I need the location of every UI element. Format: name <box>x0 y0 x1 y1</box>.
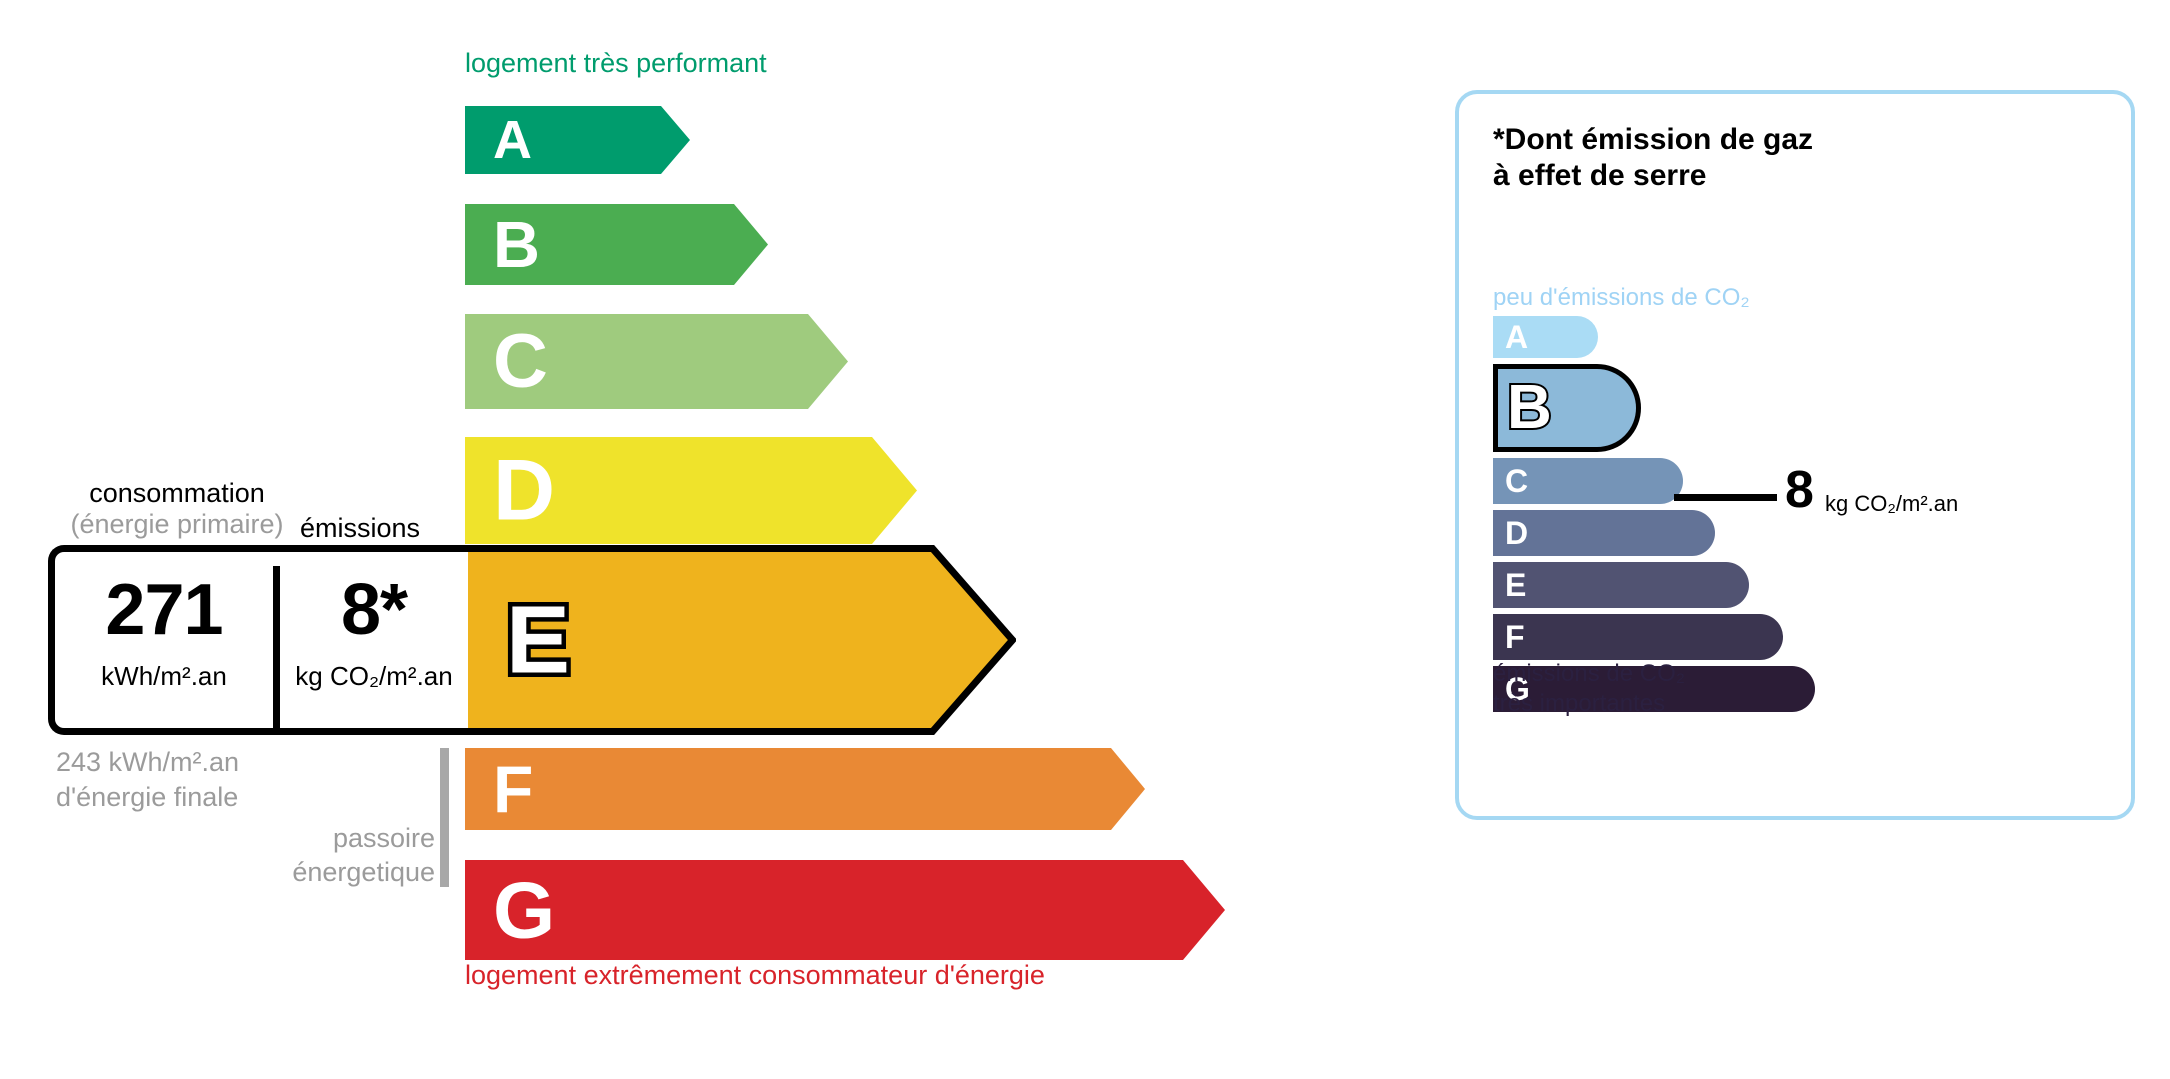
co2-top-caption: peu d'émissions de CO₂ <box>1493 284 1750 312</box>
svg-text:G: G <box>493 866 555 955</box>
energy-arrow-b: B <box>465 204 768 285</box>
consumption-unit: kWh/m².an <box>55 662 273 691</box>
co2-bar-letter-c: C <box>1505 465 1528 497</box>
co2-bottom-caption-line2: très importantes <box>1493 689 1685 719</box>
energy-bottom-caption: logement extrêmement consommateur d'éner… <box>465 960 1045 991</box>
co2-callout-leader-line <box>1674 494 1777 501</box>
energy-arrow-a: A <box>465 106 690 174</box>
energy-arrow-shape-c: C <box>465 314 848 409</box>
svg-text:D: D <box>493 443 555 539</box>
co2-bar-e: E <box>1493 562 1749 608</box>
co2-panel: *Dont émission de gaz à effet de serre p… <box>1455 90 2135 820</box>
co2-callout-unit: kg CO₂/m².an <box>1825 493 1958 515</box>
energy-top-caption: logement très performant <box>465 48 767 79</box>
passoire-label-line1: passoire <box>275 822 435 856</box>
co2-title-line2: à effet de serre <box>1493 158 1813 194</box>
co2-bar-a: A <box>1493 316 1598 358</box>
co2-bar-letter-a: A <box>1505 321 1528 353</box>
energy-scale-panel: logement très performant ABCDEFG consomm… <box>0 0 1400 1079</box>
svg-text:E: E <box>506 587 570 694</box>
co2-bottom-caption-line1: émissions de CO₂ <box>1493 659 1685 689</box>
energy-arrow-shape-g: G <box>465 860 1225 960</box>
co2-callout-value: 8 <box>1785 464 1814 516</box>
passoire-label: passoire énergetique <box>275 822 435 890</box>
energy-arrow-g: G <box>465 860 1225 960</box>
consumption-label-sub: (énergie primaire) <box>62 509 292 540</box>
co2-bar-letter-b: B <box>1507 377 1552 439</box>
consumption-value-cell: 271 kWh/m².an <box>55 552 273 728</box>
svg-text:B: B <box>493 208 540 281</box>
co2-bar-d: D <box>1493 510 1715 556</box>
energy-arrow-shape-b: B <box>465 204 768 285</box>
passoire-label-line2: énergetique <box>275 856 435 890</box>
emissions-value-cell: 8* kg CO₂/m².an <box>280 552 468 728</box>
final-energy-note-line2: d'énergie finale <box>56 780 239 815</box>
energy-arrow-e: E <box>458 545 1016 735</box>
co2-bar-letter-d: D <box>1505 517 1528 549</box>
final-energy-note-line1: 243 kWh/m².an <box>56 745 239 780</box>
co2-title-line1: *Dont émission de gaz <box>1493 122 1813 158</box>
emissions-label: émissions <box>300 513 420 544</box>
co2-bar-fill-f <box>1493 614 1783 660</box>
co2-panel-title: *Dont émission de gaz à effet de serre <box>1493 122 1813 194</box>
energy-arrow-d: D <box>465 437 917 544</box>
value-box-divider <box>273 566 280 728</box>
final-energy-note: 243 kWh/m².an d'énergie finale <box>56 745 239 814</box>
co2-bottom-caption: émissions de CO₂ très importantes <box>1493 659 1685 719</box>
co2-bar-letter-f: F <box>1505 621 1525 653</box>
energy-arrow-shape-f: F <box>465 748 1145 830</box>
co2-bar-letter-e: E <box>1505 569 1526 601</box>
co2-bar-fill-e <box>1493 562 1749 608</box>
emissions-value: 8* <box>280 574 468 646</box>
consumption-label: consommation (énergie primaire) <box>62 478 292 540</box>
co2-bar-b: B <box>1493 364 1641 452</box>
passoire-bracket <box>440 748 449 887</box>
energy-arrow-shape-e: E <box>458 545 1016 735</box>
co2-bar-f: F <box>1493 614 1783 660</box>
svg-text:F: F <box>493 752 533 826</box>
value-box: 271 kWh/m².an 8* kg CO₂/m².an <box>48 545 468 735</box>
co2-bar-c: C <box>1493 458 1683 504</box>
energy-arrow-shape-d: D <box>465 437 917 544</box>
emissions-unit: kg CO₂/m².an <box>280 662 468 691</box>
consumption-label-main: consommation <box>89 478 265 508</box>
energy-arrow-f: F <box>465 748 1145 830</box>
consumption-value: 271 <box>55 574 273 646</box>
energy-arrow-c: C <box>465 314 848 409</box>
energy-arrow-shape-a: A <box>465 106 690 174</box>
svg-text:C: C <box>493 319 548 404</box>
svg-text:A: A <box>493 110 532 170</box>
